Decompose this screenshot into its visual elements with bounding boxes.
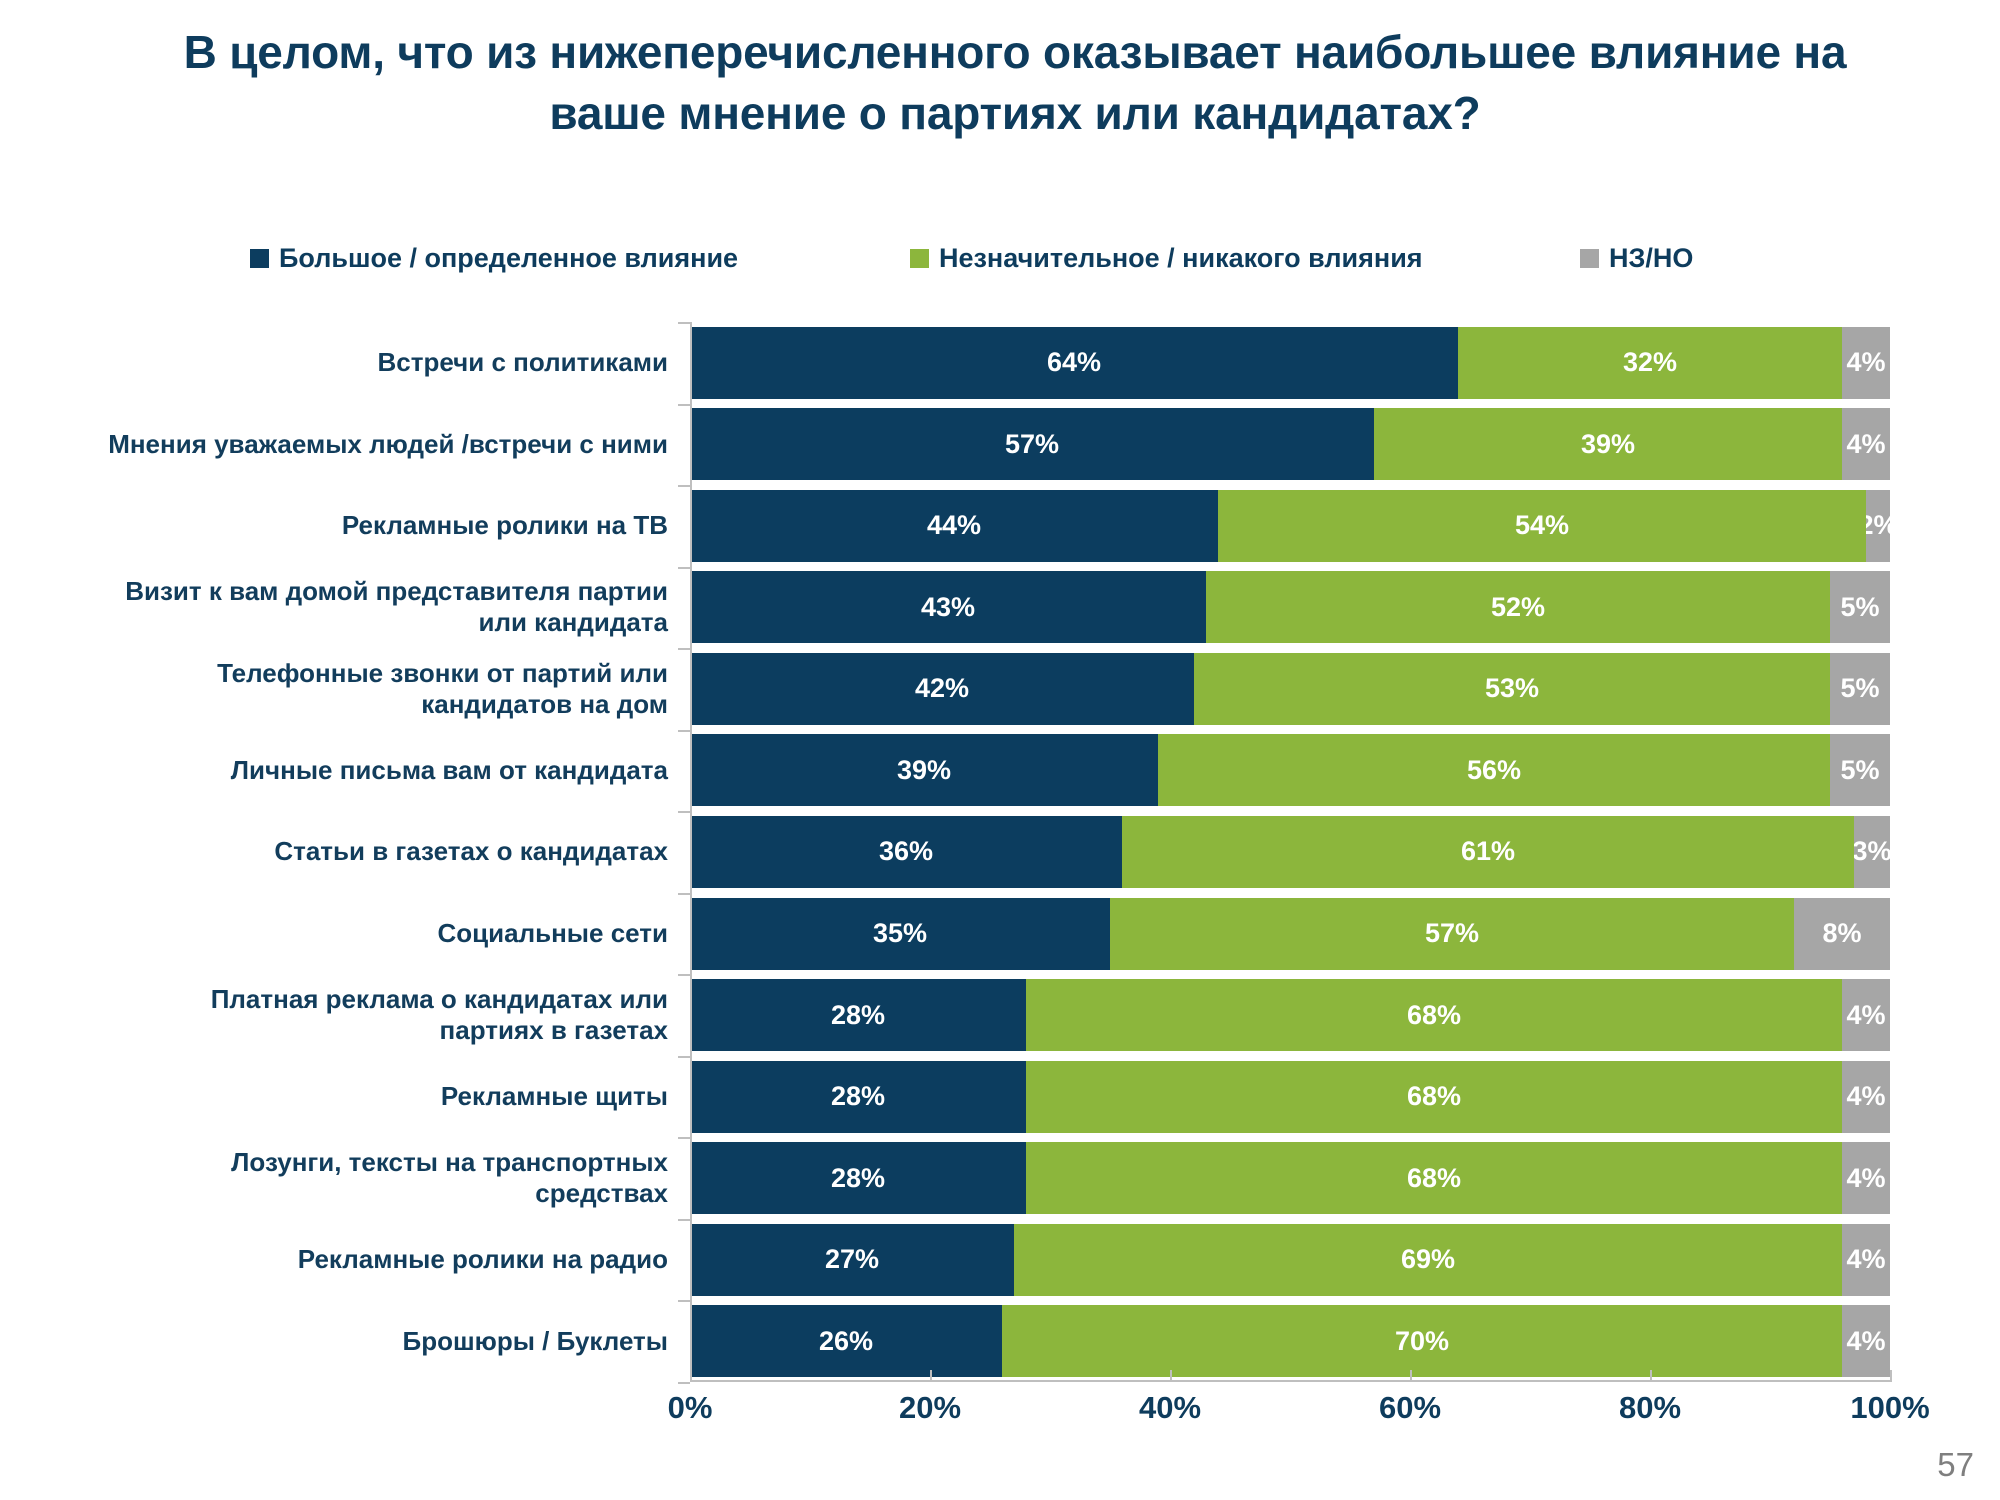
bar-segment-value: 5%: [1840, 594, 1879, 621]
bar-segment-value: 4%: [1846, 1002, 1885, 1029]
bar-segment-value: 35%: [873, 920, 927, 947]
bar-track: 28%68%4%: [690, 974, 1890, 1056]
chart-row: Статьи в газетах о кандидатах36%61%3%: [100, 811, 1890, 893]
x-axis-tick-label: 40%: [1139, 1390, 1201, 1426]
legend-item-0[interactable]: Большое / определенное влияние: [250, 245, 738, 272]
bar-track: 28%68%4%: [690, 1056, 1890, 1138]
chart-row: Лозунги, тексты на транспортных средства…: [100, 1137, 1890, 1219]
x-axis-tick-label: 80%: [1619, 1390, 1681, 1426]
bar-segment-series-0[interactable]: 42%: [690, 653, 1194, 725]
bar-track: 35%57%8%: [690, 893, 1890, 975]
bar-segment-series-0[interactable]: 26%: [690, 1305, 1002, 1377]
stacked-bar[interactable]: 43%52%5%: [690, 571, 1890, 643]
bar-track: 28%68%4%: [690, 1137, 1890, 1219]
bar-segment-series-0[interactable]: 57%: [690, 408, 1374, 480]
bar-segment-value: 4%: [1846, 1165, 1885, 1192]
bar-segment-series-1[interactable]: 39%: [1374, 408, 1842, 480]
bar-segment-series-0[interactable]: 28%: [690, 1142, 1026, 1214]
category-label: Рекламные ролики на радио: [100, 1244, 690, 1275]
bar-segment-series-1[interactable]: 69%: [1014, 1224, 1842, 1296]
stacked-bar[interactable]: 28%68%4%: [690, 979, 1890, 1051]
x-axis-tick-label: 0%: [668, 1390, 713, 1426]
bar-track: 42%53%5%: [690, 648, 1890, 730]
legend-item-label: НЗ/НО: [1609, 245, 1693, 272]
bar-segment-series-0[interactable]: 36%: [690, 816, 1122, 888]
bar-segment-value: 3%: [1854, 838, 1890, 865]
bar-segment-series-0[interactable]: 44%: [690, 490, 1218, 562]
bar-segment-series-2[interactable]: 8%: [1794, 898, 1890, 970]
bar-track: 44%54%2%: [690, 485, 1890, 567]
chart-rows: Встречи с политиками64%32%4%Мнения уважа…: [100, 322, 1890, 1382]
bar-segment-value: 4%: [1846, 431, 1885, 458]
bar-track: 39%56%5%: [690, 730, 1890, 812]
chart-row: Рекламные ролики на радио27%69%4%: [100, 1219, 1890, 1301]
chart-row: Встречи с политиками64%32%4%: [100, 322, 1890, 404]
bar-segment-series-0[interactable]: 39%: [690, 734, 1158, 806]
x-axis-tick-label: 100%: [1850, 1390, 1929, 1426]
bar-segment-value: 44%: [927, 512, 981, 539]
chart-row: Мнения уважаемых людей /встречи с ними57…: [100, 404, 1890, 486]
bar-track: 27%69%4%: [690, 1219, 1890, 1301]
bar-segment-value: 5%: [1840, 757, 1879, 784]
bar-segment-value: 57%: [1005, 431, 1059, 458]
bar-segment-value: 27%: [825, 1246, 879, 1273]
bar-segment-series-2[interactable]: 4%: [1842, 1224, 1890, 1296]
bar-segment-value: 28%: [831, 1165, 885, 1192]
bar-segment-value: 5%: [1840, 675, 1879, 702]
bar-segment-series-2[interactable]: 4%: [1842, 408, 1890, 480]
bar-segment-series-1[interactable]: 68%: [1026, 1142, 1842, 1214]
bar-segment-series-2[interactable]: 3%: [1854, 816, 1890, 888]
stacked-bar[interactable]: 64%32%4%: [690, 327, 1890, 399]
bar-segment-value: 64%: [1047, 349, 1101, 376]
legend-item-1[interactable]: Незначительное / никакого влияния: [910, 245, 1423, 272]
bar-segment-value: 32%: [1623, 349, 1677, 376]
stacked-bar[interactable]: 57%39%4%: [690, 408, 1890, 480]
category-label: Визит к вам домой представителя партии и…: [100, 576, 690, 638]
bar-segment-value: 4%: [1846, 1083, 1885, 1110]
chart-row: Платная реклама о кандидатах или партиях…: [100, 974, 1890, 1056]
bar-segment-value: 36%: [879, 838, 933, 865]
bar-segment-series-2[interactable]: 4%: [1842, 979, 1890, 1051]
stacked-bar[interactable]: 27%69%4%: [690, 1224, 1890, 1296]
bar-segment-series-1[interactable]: 61%: [1122, 816, 1854, 888]
x-axis-tick-label: 60%: [1379, 1390, 1441, 1426]
stacked-bar[interactable]: 42%53%5%: [690, 653, 1890, 725]
x-axis-tick: [1890, 1370, 1892, 1382]
bar-segment-value: 28%: [831, 1002, 885, 1029]
chart-row: Телефонные звонки от партий или кандидат…: [100, 648, 1890, 730]
chart-legend: Большое / определенное влияниеНезначител…: [240, 245, 1720, 291]
bar-segment-value: 61%: [1461, 838, 1515, 865]
stacked-bar[interactable]: 44%54%2%: [690, 490, 1890, 562]
bar-track: 36%61%3%: [690, 811, 1890, 893]
bar-segment-series-1[interactable]: 57%: [1110, 898, 1794, 970]
bar-segment-value: 57%: [1425, 920, 1479, 947]
bar-segment-series-1[interactable]: 68%: [1026, 1061, 1842, 1133]
bar-segment-value: 69%: [1401, 1246, 1455, 1273]
category-label: Личные письма вам от кандидата: [100, 755, 690, 786]
chart-row: Визит к вам домой представителя партии и…: [100, 567, 1890, 649]
bar-segment-series-1[interactable]: 70%: [1002, 1305, 1842, 1377]
category-label: Рекламные ролики на ТВ: [100, 510, 690, 541]
bar-segment-value: 39%: [897, 757, 951, 784]
bar-segment-value: 26%: [819, 1328, 873, 1355]
bar-segment-value: 52%: [1491, 594, 1545, 621]
bar-segment-series-2[interactable]: 4%: [1842, 1305, 1890, 1377]
stacked-bar[interactable]: 36%61%3%: [690, 816, 1890, 888]
legend-item-label: Большое / определенное влияние: [279, 245, 738, 272]
stacked-bar[interactable]: 26%70%4%: [690, 1305, 1890, 1377]
bar-segment-value: 68%: [1407, 1165, 1461, 1192]
bar-segment-value: 43%: [921, 594, 975, 621]
stacked-bar[interactable]: 39%56%5%: [690, 734, 1890, 806]
category-label: Мнения уважаемых людей /встречи с ними: [100, 429, 690, 460]
bar-segment-value: 68%: [1407, 1002, 1461, 1029]
bar-segment-series-0[interactable]: 27%: [690, 1224, 1014, 1296]
x-axis-tick-label: 20%: [899, 1390, 961, 1426]
bar-segment-value: 56%: [1467, 757, 1521, 784]
bar-segment-value: 42%: [915, 675, 969, 702]
chart-row: Брошюры / Буклеты26%70%4%: [100, 1300, 1890, 1382]
category-label: Лозунги, тексты на транспортных средства…: [100, 1147, 690, 1209]
chart-row: Рекламные ролики на ТВ44%54%2%: [100, 485, 1890, 567]
bar-segment-value: 4%: [1846, 1328, 1885, 1355]
bar-segment-value: 2%: [1866, 512, 1890, 539]
square-swatch-icon: [1580, 249, 1599, 268]
bar-segment-series-2[interactable]: 5%: [1830, 734, 1890, 806]
square-swatch-icon: [910, 249, 929, 268]
slide: В целом, что из нижеперечисленного оказы…: [0, 0, 2000, 1500]
bar-segment-value: 70%: [1395, 1328, 1449, 1355]
bar-segment-value: 39%: [1581, 431, 1635, 458]
bar-segment-series-1[interactable]: 68%: [1026, 979, 1842, 1051]
bar-segment-value: 4%: [1846, 349, 1885, 376]
square-swatch-icon: [250, 249, 269, 268]
chart-row: Личные письма вам от кандидата39%56%5%: [100, 730, 1890, 812]
category-label: Платная реклама о кандидатах или партиях…: [100, 984, 690, 1046]
legend-item-2[interactable]: НЗ/НО: [1580, 245, 1693, 272]
bar-track: 43%52%5%: [690, 567, 1890, 649]
bar-segment-series-0[interactable]: 35%: [690, 898, 1110, 970]
bar-segment-series-1[interactable]: 53%: [1194, 653, 1830, 725]
chart-row: Социальные сети35%57%8%: [100, 893, 1890, 975]
bar-segment-series-0[interactable]: 43%: [690, 571, 1206, 643]
category-label: Рекламные щиты: [100, 1081, 690, 1112]
bar-segment-value: 8%: [1822, 920, 1861, 947]
bar-segment-series-2[interactable]: 4%: [1842, 1142, 1890, 1214]
bar-segment-series-0[interactable]: 28%: [690, 1061, 1026, 1133]
bar-segment-series-1[interactable]: 54%: [1218, 490, 1866, 562]
category-label: Телефонные звонки от партий или кандидат…: [100, 658, 690, 720]
chart-row: Рекламные щиты28%68%4%: [100, 1056, 1890, 1138]
bar-segment-series-2[interactable]: 2%: [1866, 490, 1890, 562]
bar-segment-value: 54%: [1515, 512, 1569, 539]
y-axis-tick: [678, 1382, 690, 1384]
bar-segment-value: 28%: [831, 1083, 885, 1110]
bar-segment-value: 68%: [1407, 1083, 1461, 1110]
category-label: Социальные сети: [100, 918, 690, 949]
category-label: Встречи с политиками: [100, 347, 690, 378]
category-label: Статьи в газетах о кандидатах: [100, 836, 690, 867]
stacked-bar[interactable]: 28%68%4%: [690, 1061, 1890, 1133]
bar-segment-series-1[interactable]: 56%: [1158, 734, 1830, 806]
bar-segment-series-2[interactable]: 4%: [1842, 1061, 1890, 1133]
legend-item-label: Незначительное / никакого влияния: [939, 245, 1423, 272]
page-title: В целом, что из нижеперечисленного оказы…: [120, 22, 1910, 144]
bar-segment-series-2[interactable]: 4%: [1842, 327, 1890, 399]
bar-segment-series-1[interactable]: 32%: [1458, 327, 1842, 399]
bar-segment-value: 4%: [1846, 1246, 1885, 1273]
stacked-bar[interactable]: 28%68%4%: [690, 1142, 1890, 1214]
bar-track: 26%70%4%: [690, 1300, 1890, 1382]
category-label: Брошюры / Буклеты: [100, 1326, 690, 1357]
bar-segment-series-2[interactable]: 5%: [1830, 571, 1890, 643]
bar-segment-series-0[interactable]: 64%: [690, 327, 1458, 399]
bar-segment-series-1[interactable]: 52%: [1206, 571, 1830, 643]
bar-track: 64%32%4%: [690, 322, 1890, 404]
bar-segment-value: 53%: [1485, 675, 1539, 702]
bar-segment-series-2[interactable]: 5%: [1830, 653, 1890, 725]
x-axis-tick-labels: 0%20%40%60%80%100%: [690, 1390, 1890, 1438]
page-number: 57: [1937, 1446, 1974, 1484]
bar-segment-series-0[interactable]: 28%: [690, 979, 1026, 1051]
stacked-bar[interactable]: 35%57%8%: [690, 898, 1890, 970]
stacked-bar-chart: Встречи с политиками64%32%4%Мнения уважа…: [100, 322, 1890, 1382]
bar-track: 57%39%4%: [690, 404, 1890, 486]
